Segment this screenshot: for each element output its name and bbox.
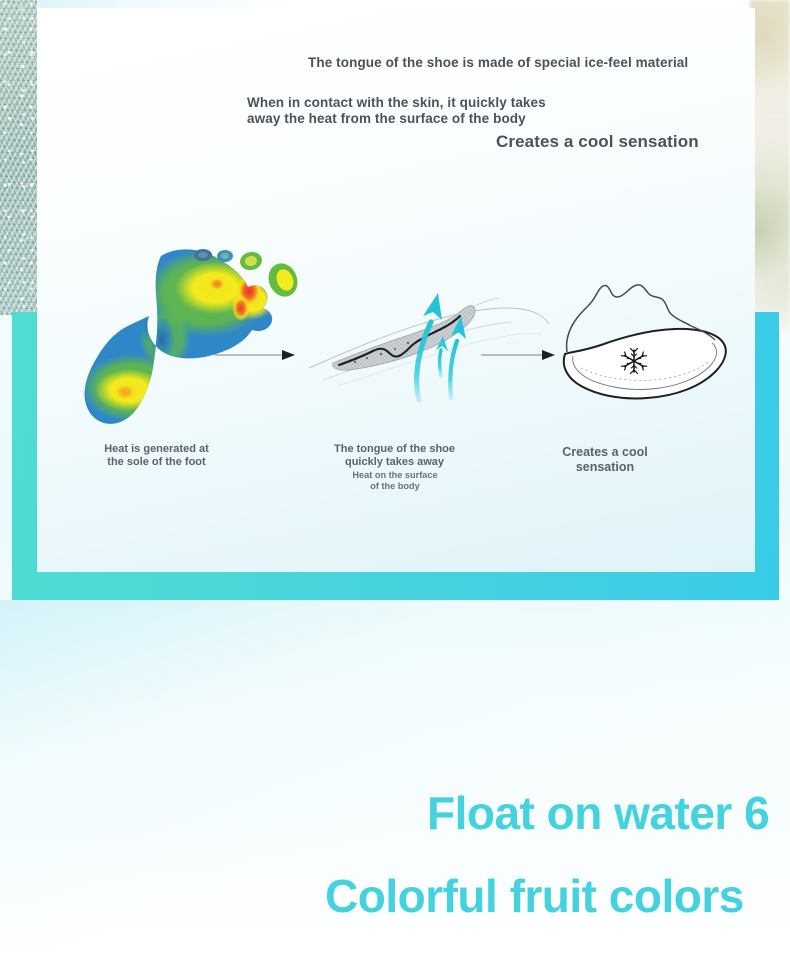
left-fabric-texture-photo bbox=[0, 0, 37, 315]
upward-heat-arrow-icon bbox=[417, 293, 466, 400]
headline-tertiary: Creates a cool sensation bbox=[496, 132, 699, 152]
promo-line-fruit-colors: Colorful fruit colors bbox=[325, 869, 744, 923]
headline-primary: The tongue of the shoe is made of specia… bbox=[308, 55, 688, 71]
caption-step-foot: Heat is generated at the sole of the foo… bbox=[60, 443, 253, 470]
subcaption-step-tongue: Heat on the surface of the body bbox=[295, 470, 495, 492]
shoe-tongue-heat-flow-icon bbox=[309, 293, 549, 400]
caption-step-tongue: The tongue of the shoe quickly takes awa… bbox=[290, 443, 499, 470]
thermal-footprint-icon bbox=[67, 238, 302, 438]
right-arrow-icon bbox=[215, 350, 295, 360]
right-blurred-nature-photo bbox=[750, 0, 790, 330]
headline-secondary: When in contact with the skin, it quickl… bbox=[247, 95, 546, 127]
promo-line-float-on-water: Float on water 6 bbox=[427, 786, 769, 840]
shoe-snowflake-icon bbox=[564, 285, 726, 399]
right-arrow-icon bbox=[481, 350, 555, 360]
caption-step-cool: Creates a cool sensation bbox=[512, 445, 698, 476]
